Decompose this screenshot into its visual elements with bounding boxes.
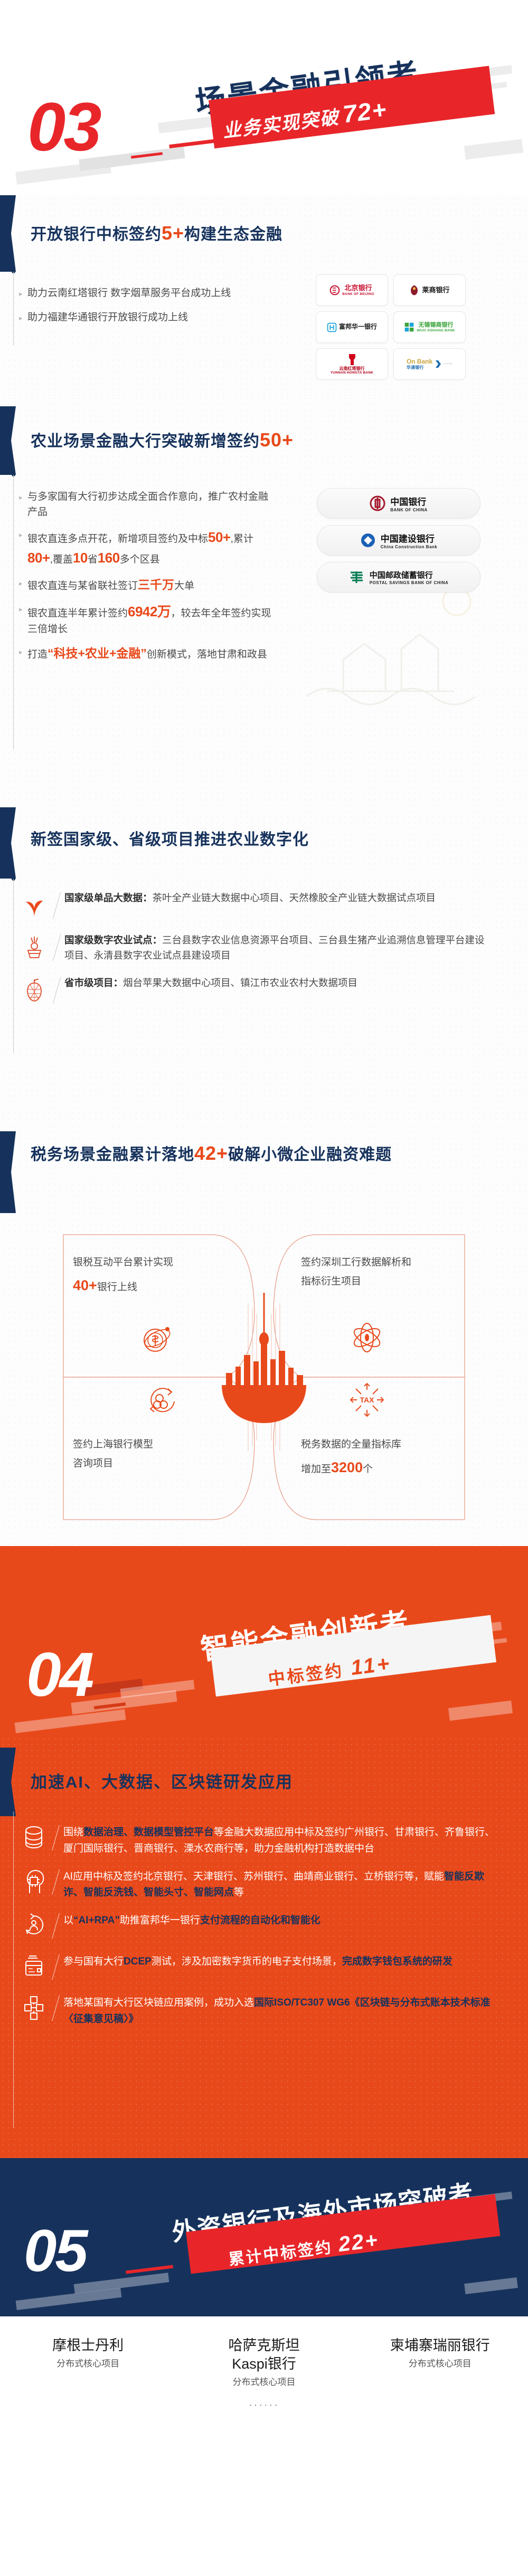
agriculture-title-a: 农业场景金融大行突破新增签约: [31, 433, 260, 450]
bullet-item: ▸ 银农直连多点开花，新增项目签约及中标50+,累计80+,覆盖10省160多个…: [19, 527, 278, 568]
yunnan-hongta-bank-mark: [347, 354, 357, 366]
open-bank-bullets: ▸ 助力云南红塔银行 数字烟草服务平台成功上线 ▸ 助力福建华通银行开放银行成功…: [19, 286, 294, 329]
client-name-0: 摩根士丹利: [0, 2336, 176, 2355]
section-03-subtitle-number: 72+: [341, 96, 389, 128]
tax-box-2-line2: 咨询项目: [73, 1454, 231, 1473]
bullet-item: ▸ 打造“科技+农业+金融”创新模式，落地甘肃和政县: [19, 644, 278, 663]
tax-title-a: 税务场景金融累计落地: [31, 1146, 194, 1163]
open-bank-logo-grid: 北京银行 BANK OF BEIJING 莱商银行: [316, 274, 474, 380]
logo-label-cn: 北京银行: [342, 284, 374, 292]
ai-bullet-item: 以“AI+RPA”助推富邦华一银行支付流程的自动化和智能化: [20, 1913, 511, 1942]
agriculture-bullet-3: 银农直连半年累计签约6942万，较去年全年签约实现三倍增长: [27, 602, 278, 637]
client-item: 哈萨克斯坦 Kaspi银行 分布式核心项目: [176, 2336, 352, 2389]
section-05-banner: 05 外资银行及海外市场突破者 累计中标签约22+: [0, 2158, 528, 2316]
decor-bar-6: [464, 139, 523, 159]
section-05-number: 05: [24, 2221, 87, 2281]
wuxi-xishang-bank-logo: 无锡锡商银行 WUXI XISHANG BANK: [404, 322, 455, 332]
section-04-banner: 04 智能金融创新者 中标签约11+: [0, 1546, 528, 1736]
ai-bullet-list: 围绕数据治理、数据模型管控平台等金融大数据应用中标及签约广州银行、甘肃银行、齐鲁…: [20, 1825, 511, 2028]
ai-bullet-item: AI应用中标及签约北京银行、天津银行、苏州银行、曲靖商业银行、立桥银行等，赋能智…: [20, 1869, 511, 1902]
section-03-number: 03: [27, 92, 100, 161]
open-bank-bullet-1: 助力福建华通银行开放银行成功上线: [27, 310, 188, 326]
tax-title: 税务场景金融累计落地42+破解小微企业融资难题: [31, 1141, 495, 1167]
bank-of-china-mark: [370, 495, 385, 511]
agriculture-panel: 农业场景金融大行突破新增签约50+ ▸ 与多家国有大行初步达成全面合作意向，推广…: [0, 396, 528, 797]
tax-title-b: 破解小微企业融资难题: [228, 1146, 392, 1163]
tea-leaf-icon: [20, 891, 49, 920]
bullet-tick-icon: ▸: [19, 527, 27, 543]
logo-label-cn: 云南红塔银行: [331, 366, 373, 371]
bullet-tick-icon: ▸: [19, 310, 27, 326]
logo-label-en: China Construction Bank: [381, 545, 438, 549]
wuxi-xishang-bank-mark: [404, 322, 414, 332]
project-item: 省市级项目：烟台苹果大数据中心项目、镇江市农业农村大数据项目: [20, 976, 495, 1005]
tax-box-1-line2: 指标衍生项目: [301, 1272, 470, 1291]
logo-label-cn: 中国邮政储蓄银行: [370, 571, 433, 580]
agriculture-title-number: 50+: [260, 429, 294, 451]
project-label-1: 国家级数字农业试点：: [64, 934, 162, 946]
ai-bullet-text-0: 围绕数据治理、数据模型管控平台等金融大数据应用中标及签约广州银行、甘肃银行、齐鲁…: [63, 1825, 502, 1857]
client-item: 摩根士丹利 分布式核心项目: [0, 2336, 176, 2389]
national-projects-list: 国家级单品大数据：茶叶全产业链大数据中心项目、天然橡胶全产业链大数据试点项目 国…: [20, 891, 495, 1014]
logo-label-cn: 无锡锡商银行: [417, 322, 455, 329]
ai-bullet-text-4: 落地某国有大行区块链应用案例，成功入选国际ISO/TC307 WG6《区块链与分…: [63, 1995, 502, 2028]
tax-box-3-line1: 税务数据的全量指标库: [301, 1435, 475, 1454]
bullet-item: ▸ 银农直连半年累计签约6942万，较去年全年签约实现三倍增长: [19, 602, 278, 637]
open-bank-panel: 开放银行中标签约5+构建生态金融 ▸ 助力云南红塔银行 数字烟草服务平台成功上线…: [0, 195, 528, 396]
project-divider: [49, 976, 64, 1005]
logo-label-en: BANK OF CHINA: [390, 508, 428, 512]
china-construction-bank-mark: [360, 532, 376, 548]
logo-card-china-construction-bank[interactable]: 中国建设银行 China Construction Bank: [317, 525, 480, 556]
ai-divider: [48, 1954, 63, 1983]
yunnan-hongta-bank-logo: 云南红塔银行 YUNNAN HONGTA BANK: [331, 354, 373, 375]
ai-bullet-text-3: 参与国有大行DCEP测试，涉及加密数字货币的电子支付场景，完成数字钱包系统的研发: [63, 1954, 502, 1970]
project-item: 国家级数字农业试点：三台县数字农业信息资源平台项目、三台县生猪产业追溯信息管理平…: [20, 933, 495, 963]
project-text-1: 国家级数字农业试点：三台县数字农业信息资源平台项目、三台县生猪产业追溯信息管理平…: [64, 933, 487, 963]
ai-bullet-text-1: AI应用中标及签约北京银行、天津银行、苏州银行、曲靖商业银行、立桥银行等，赋能智…: [63, 1869, 502, 1902]
bullet-item: ▸ 助力云南红塔银行 数字烟草服务平台成功上线: [19, 286, 294, 302]
client-name-2: 柬埔寨瑞丽银行: [352, 2336, 528, 2355]
logo-card-bank-of-china[interactable]: 中国银行 BANK OF CHINA: [317, 488, 480, 519]
logo-label-en: On Bank: [407, 358, 432, 366]
on-bank-huatong-logo: On Bank 华通银行 ······: [407, 358, 452, 370]
postal-savings-bank-mark: [349, 570, 365, 584]
tax-box-0-text: 银税互动平台累计实现 40+银行上线: [73, 1253, 231, 1299]
tax-four-box-diagram: 银税互动平台累计实现 40+银行上线 签约深圳工行数据解析和 指标衍生项目: [0, 1224, 528, 1525]
logo-card-yunnan-hongta-bank[interactable]: 云南红塔银行 YUNNAN HONGTA BANK: [316, 348, 388, 380]
agriculture-bullets: ▸ 与多家国有大行初步达成全面合作意向，推广农村金融产品 ▸ 银农直连多点开花，…: [19, 490, 278, 666]
blockchain-icon: [20, 1995, 48, 2025]
tax-exchange-icon: TAX: [348, 1381, 385, 1418]
fubon-huayi-bank-logo: 富邦华一银行: [327, 322, 377, 332]
on-bank-mark: [435, 360, 441, 368]
project-text-0: 国家级单品大数据：茶叶全产业链大数据中心项目、天然橡胶全产业链大数据试点项目: [64, 891, 487, 906]
bank-of-beijing-logo: 北京银行 BANK OF BEIJING: [329, 284, 374, 296]
open-bank-bullet-0: 助力云南红塔银行 数字烟草服务平台成功上线: [27, 286, 231, 301]
project-label-2: 省市级项目：: [64, 977, 123, 988]
digital-wallet-icon: [20, 1954, 48, 1983]
bullet-tick-icon: ▸: [19, 490, 27, 505]
bullet-tick-icon: ▸: [19, 576, 27, 591]
logo-label-cn: 中国银行: [390, 497, 426, 507]
agriculture-bullet-2: 银农直连与某省联社签订三千万大单: [27, 576, 194, 594]
tax-box-3-text: 税务数据的全量指标库 增加至3200个: [301, 1435, 475, 1481]
fubon-huayi-bank-mark: [327, 322, 337, 332]
rice-plant-icon: [20, 933, 49, 962]
ai-brain-chip-icon: [20, 1869, 48, 1898]
section-04-number: 04: [26, 1644, 92, 1706]
logo-label-en: POSTAL SAVINGS BANK OF CHINA: [370, 580, 449, 585]
tax-box-0-line1: 银税互动平台累计实现: [73, 1253, 231, 1272]
navy-tab-tax: [0, 1131, 16, 1213]
tax-box-3-line2-post: 个: [363, 1464, 373, 1475]
project-label-0: 国家级单品大数据：: [64, 892, 153, 903]
logo-label-en: WUXI XISHANG BANK: [417, 329, 455, 332]
tax-box-1-line1: 签约深圳工行数据解析和: [301, 1253, 470, 1272]
logo-card-on-bank-huatong[interactable]: On Bank 华通银行 ······: [393, 348, 466, 380]
infographic-page: 03 场景金融引领者 业务实现突破72+ 开放银行中标签约5+构建生态金融 ▸ …: [0, 0, 528, 2438]
logo-label-en: BANK OF BEIJING: [342, 292, 374, 296]
client-name-1: 哈萨克斯坦 Kaspi银行: [176, 2336, 352, 2373]
logo-card-laishang-bank[interactable]: 莱商银行: [393, 274, 466, 306]
national-projects-panel: 新签国家级、省级项目推进农业数字化 国家级单品大数据：茶叶全产业链大数据中心项目…: [0, 797, 528, 1124]
national-projects-title: 新签国家级、省级项目推进农业数字化: [31, 829, 309, 851]
tax-panel: 税务场景金融累计落地42+破解小微企业融资难题: [0, 1124, 528, 1546]
client-desc-0: 分布式核心项目: [0, 2358, 176, 2370]
ai-title: 加速AI、大数据、区块链研发应用: [31, 1769, 293, 1792]
tax-box-0-line2: 银行上线: [97, 1282, 137, 1293]
logo-card-postal-savings-bank[interactable]: 中国邮政储蓄银行 POSTAL SAVINGS BANK OF CHINA: [317, 562, 480, 593]
ai-divider: [48, 1995, 63, 2025]
open-bank-title: 开放银行中标签约5+构建生态金融: [31, 221, 282, 246]
project-desc-0: 茶叶全产业链大数据中心项目、天然橡胶全产业链大数据试点项目: [153, 892, 436, 903]
agriculture-bullet-1: 银农直连多点开花，新增项目签约及中标50+,累计80+,覆盖10省160多个区县: [27, 527, 278, 568]
open-bank-title-a: 开放银行中标签约: [31, 226, 162, 243]
bullet-tick-icon: ▸: [19, 644, 27, 660]
agriculture-title: 农业场景金融大行突破新增签约50+: [31, 427, 294, 453]
apple-icon: [20, 976, 49, 1005]
tax-box-3-line2-pre: 增加至: [301, 1464, 331, 1475]
logo-card-bank-of-beijing[interactable]: 北京银行 BANK OF BEIJING: [316, 274, 388, 306]
ai-panel: 加速AI、大数据、区块链研发应用 围绕数据治理、数据模型管控平台等金融大数据应用…: [0, 1736, 528, 2158]
tax-box-3-number: 3200: [331, 1459, 363, 1475]
navy-tab-agriculture: [0, 406, 16, 475]
logo-card-wuxi-xishang-bank[interactable]: 无锡锡商银行 WUXI XISHANG BANK: [393, 311, 466, 343]
project-item: 国家级单品大数据：茶叶全产业链大数据中心项目、天然橡胶全产业链大数据试点项目: [20, 891, 495, 920]
logo-label-en: YUNNAN HONGTA BANK: [331, 371, 373, 375]
bullet-tick-icon: ▸: [19, 286, 27, 302]
client-desc-2: 分布式核心项目: [352, 2358, 528, 2370]
ai-bullet-text-2: 以“AI+RPA”助推富邦华一银行支付流程的自动化和智能化: [63, 1913, 502, 1929]
bullet-item: ▸ 与多家国有大行初步达成全面合作意向，推广农村金融产品: [19, 490, 278, 520]
tax-box-1-text: 签约深圳工行数据解析和 指标衍生项目: [301, 1253, 470, 1291]
project-divider: [49, 891, 64, 920]
decor-bar-n5: [464, 2277, 518, 2294]
section-04-subtitle-text: 中标签约: [267, 1661, 345, 1688]
decor-bar-n2: [74, 2273, 169, 2294]
project-text-2: 省市级项目：烟台苹果大数据中心项目、镇江市农业农村大数据项目: [64, 976, 487, 991]
database-icon: [20, 1825, 48, 1854]
navy-tab-ai: [0, 1748, 16, 1816]
open-bank-title-b: 构建生态金融: [184, 226, 282, 243]
tax-box-2-text: 签约上海银行模型 咨询项目: [73, 1435, 231, 1473]
section-05-clients: 摩根士丹利 分布式核心项目 哈萨克斯坦 Kaspi银行 分布式核心项目 柬埔寨瑞…: [0, 2316, 528, 2438]
connector-line-agriculture: [13, 475, 14, 749]
connector-line-open-bank: [13, 272, 14, 346]
bullet-tick-icon: ▸: [19, 602, 27, 617]
atom-icon: [348, 1319, 385, 1356]
agriculture-logo-list: 中国银行 BANK OF CHINA 中国建设银行 China Construc…: [317, 488, 480, 593]
client-desc-1: 分布式核心项目: [176, 2377, 352, 2389]
logo-more-dots: ······: [444, 361, 452, 366]
laishang-bank-mark: [409, 284, 419, 296]
navy-tab-national: [0, 807, 16, 879]
logo-label-cn: 中国建设银行: [381, 534, 435, 544]
logo-label-cn: 莱商银行: [422, 287, 449, 294]
project-desc-2: 烟台苹果大数据中心项目、镇江市农业农村大数据项目: [123, 977, 357, 988]
navy-tab-open-bank: [0, 195, 16, 272]
svg-text:TAX: TAX: [360, 1396, 375, 1404]
bank-of-beijing-mark: [329, 285, 340, 295]
logo-card-fubon-huayi-bank[interactable]: 富邦华一银行: [316, 311, 388, 343]
ai-divider: [48, 1825, 63, 1854]
logo-label-cn: 富邦华一银行: [339, 323, 377, 331]
rpa-robot-icon: [20, 1913, 48, 1942]
project-divider: [49, 933, 64, 962]
tax-title-number: 42+: [194, 1142, 228, 1164]
tax-box-2-line1: 签约上海银行模型: [73, 1435, 231, 1454]
ai-bullet-item: 参与国有大行DCEP测试，涉及加密数字货币的电子支付场景，完成数字钱包系统的研发: [20, 1954, 511, 1983]
client-item: 柬埔寨瑞丽银行 分布式核心项目: [352, 2336, 528, 2389]
section-03-banner: 03 场景金融引领者 业务实现突破72+: [0, 0, 528, 195]
bullet-item: ▸ 助力福建华通银行开放银行成功上线: [19, 310, 294, 326]
agriculture-bullet-4: 打造“科技+农业+金融”创新模式，落地甘肃和政县: [27, 644, 267, 663]
client-more-dots: ······: [0, 2399, 528, 2411]
ai-divider: [48, 1913, 63, 1942]
shanghai-skyline-icon: [206, 1293, 322, 1451]
section-05-subtitle-number: 22+: [337, 2228, 380, 2256]
tax-box-0-number: 40+: [73, 1277, 97, 1293]
agriculture-bullet-0: 与多家国有大行初步达成全面合作意向，推广农村金融产品: [27, 490, 278, 520]
decor-bar-w6: [448, 1701, 513, 1721]
connector-line-national: [13, 879, 14, 1053]
bullet-item: ▸ 银农直连与某省联社签订三千万大单: [19, 576, 278, 594]
laishang-bank-logo: 莱商银行: [409, 284, 449, 296]
ai-bullet-item: 围绕数据治理、数据模型管控平台等金融大数据应用中标及签约广州银行、甘肃银行、齐鲁…: [20, 1825, 511, 1857]
decor-bar-n1: [16, 2288, 122, 2310]
open-bank-title-number: 5+: [162, 222, 184, 244]
coin-dollar-icon: [138, 1320, 175, 1357]
ai-divider: [48, 1869, 63, 1898]
cycle-model-icon: [144, 1382, 181, 1419]
section-04-subtitle-number: 11+: [350, 1652, 393, 1680]
logo-label-cn: 华通银行: [407, 365, 432, 370]
connector-line-ai: [13, 1811, 14, 2128]
decor-bar-w1: [15, 1709, 126, 1733]
ai-bullet-item: 落地某国有大行区块链应用案例，成功入选国际ISO/TC307 WG6《区块链与分…: [20, 1995, 511, 2028]
